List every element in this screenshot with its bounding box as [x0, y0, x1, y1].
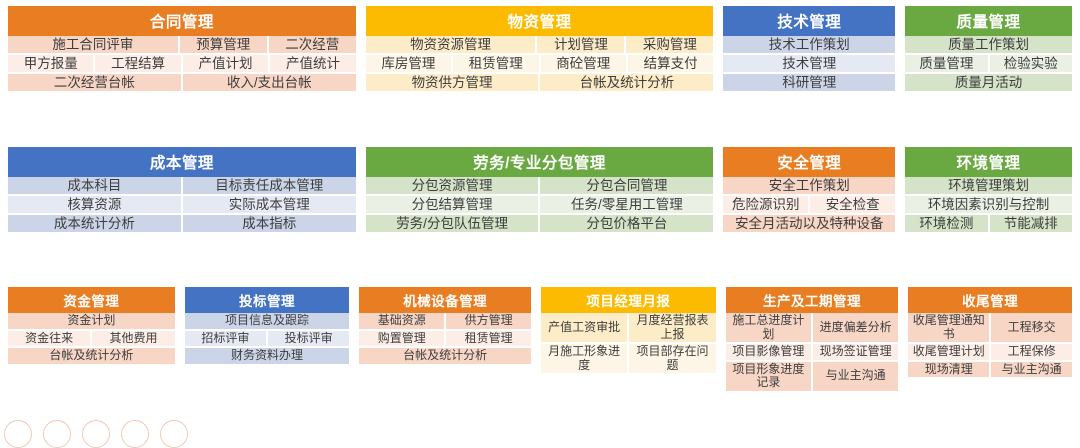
module-item[interactable]: 分包结算管理: [366, 196, 539, 213]
module-row: 资金往来其他费用: [8, 329, 175, 346]
module-item[interactable]: 实际成本管理: [181, 196, 356, 213]
module-item[interactable]: 月施工形象进度: [541, 344, 627, 373]
module-item[interactable]: 成本统计分析: [8, 215, 181, 232]
module-item[interactable]: 结算支付: [626, 55, 713, 72]
module-item[interactable]: 财务资料办理: [185, 348, 350, 363]
card-title-production-schedule-management: 生产及工期管理: [726, 287, 899, 313]
module-item[interactable]: 产值工资审批: [541, 313, 627, 342]
card-title-cost-management: 成本管理: [8, 147, 356, 177]
module-item[interactable]: 计划管理: [535, 36, 624, 53]
module-row: 甲方报量工程结算产值计划产值统计: [8, 53, 356, 72]
module-item[interactable]: 收尾管理通知书: [908, 313, 989, 342]
module-row: 技术工作策划: [723, 36, 895, 53]
module-item[interactable]: 分包资源管理: [366, 177, 539, 194]
card-body-cost-management: 成本科目目标责任成本管理核算资源实际成本管理成本统计分析成本指标: [8, 177, 356, 232]
module-item[interactable]: 安全工作策划: [723, 177, 895, 194]
card-title-quality-management: 质量管理: [905, 6, 1072, 36]
card-title-labor-subcontract-management: 劳务/专业分包管理: [366, 147, 714, 177]
module-item[interactable]: 库房管理: [366, 55, 451, 72]
card-material-management: 物资管理物资资源管理计划管理采购管理库房管理租赁管理商砼管理结算支付物资供方管理…: [366, 6, 714, 91]
card-title-contract-management: 合同管理: [8, 6, 356, 36]
module-item[interactable]: 工程保修: [989, 344, 1072, 359]
module-item[interactable]: 危险源识别: [723, 196, 808, 213]
module-row: 月施工形象进度项目部存在问题: [541, 342, 716, 373]
module-row: 项目形象进度记录与业主沟通: [726, 360, 899, 391]
card-title-bidding-management: 投标管理: [185, 287, 350, 313]
module-row: 台帐及统计分析: [359, 346, 531, 363]
module-item[interactable]: 二次经营台帐: [8, 74, 181, 91]
module-item[interactable]: 任务/零星用工管理: [538, 196, 713, 213]
module-item[interactable]: 项目形象进度记录: [726, 362, 811, 391]
module-row: 成本统计分析成本指标: [8, 213, 356, 232]
module-row: 施工合同评审预算管理二次经营: [8, 36, 356, 53]
card-body-bidding-management: 项目信息及跟踪招标评审投标评审财务资料办理: [185, 313, 350, 363]
module-item[interactable]: 现场清理: [908, 362, 989, 377]
module-item[interactable]: 台帐及统计分析: [8, 348, 175, 363]
module-row: 环境检测节能减排: [905, 213, 1072, 232]
row-3: 资金管理资金计划资金往来其他费用台帐及统计分析投标管理项目信息及跟踪招标评审投标…: [8, 287, 1072, 425]
module-item[interactable]: 与业主沟通: [811, 362, 898, 391]
module-row: 质量工作策划: [905, 36, 1072, 53]
module-item[interactable]: 工程移交: [989, 313, 1072, 342]
card-title-closeout-management: 收尾管理: [908, 287, 1072, 313]
card-title-material-management: 物资管理: [366, 6, 714, 36]
module-row: 物资供方管理台帐及统计分析: [366, 72, 714, 91]
module-item[interactable]: 技术管理: [723, 55, 895, 72]
module-item[interactable]: 产值计划: [181, 55, 268, 72]
module-row: 物资资源管理计划管理采购管理: [366, 36, 714, 53]
module-row: 核算资源实际成本管理: [8, 194, 356, 213]
card-technology-management: 技术管理技术工作策划技术管理科研管理: [723, 6, 895, 91]
card-body-material-management: 物资资源管理计划管理采购管理库房管理租赁管理商砼管理结算支付物资供方管理台帐及统…: [366, 36, 714, 91]
card-body-quality-management: 质量工作策划质量管理检验实验质量月活动: [905, 36, 1072, 91]
module-item[interactable]: 二次经营: [267, 36, 356, 53]
card-body-safety-management: 安全工作策划危险源识别安全检查安全月活动以及特种设备: [723, 177, 895, 232]
module-item[interactable]: 收入/支出台帐: [181, 74, 356, 91]
module-item[interactable]: 安全月活动以及特种设备: [723, 215, 895, 232]
module-item[interactable]: 资金计划: [8, 313, 175, 328]
module-item[interactable]: 环境检测: [905, 215, 987, 232]
module-item[interactable]: 分包合同管理: [538, 177, 713, 194]
module-item[interactable]: 目标责任成本管理: [181, 177, 356, 194]
module-item[interactable]: 现场签证管理: [811, 344, 898, 359]
card-machinery-equipment-management: 机械设备管理基础资源供方管理购置管理租赁管理台帐及统计分析: [359, 287, 531, 363]
module-item[interactable]: 供方管理: [444, 313, 531, 328]
module-row: 购置管理租赁管理: [359, 329, 531, 346]
module-item[interactable]: 检验实验: [988, 55, 1072, 72]
module-item[interactable]: 质量管理: [905, 55, 987, 72]
card-quality-management: 质量管理质量工作策划质量管理检验实验质量月活动: [905, 6, 1072, 91]
module-row: 收尾管理通知书工程移交: [908, 313, 1072, 342]
module-item[interactable]: 质量工作策划: [905, 36, 1072, 53]
module-item[interactable]: 质量月活动: [905, 74, 1072, 91]
card-title-safety-management: 安全管理: [723, 147, 895, 177]
module-row: 台帐及统计分析: [8, 346, 175, 363]
card-title-machinery-equipment-management: 机械设备管理: [359, 287, 531, 313]
card-body-machinery-equipment-management: 基础资源供方管理购置管理租赁管理台帐及统计分析: [359, 313, 531, 363]
module-item[interactable]: 产值统计: [268, 55, 355, 72]
module-item[interactable]: 预算管理: [178, 36, 267, 53]
module-item[interactable]: 工程结算: [93, 55, 180, 72]
module-item[interactable]: 安全检查: [808, 196, 895, 213]
card-body-contract-management: 施工合同评审预算管理二次经营甲方报量工程结算产值计划产值统计二次经营台帐收入/支…: [8, 36, 356, 91]
module-item[interactable]: 项目部存在问题: [627, 344, 715, 373]
module-row: 安全工作策划: [723, 177, 895, 194]
module-item[interactable]: 科研管理: [723, 74, 895, 91]
row-2: 成本管理成本科目目标责任成本管理核算资源实际成本管理成本统计分析成本指标劳务/专…: [8, 147, 1072, 279]
module-row: 劳务/分包队伍管理分包价格平台: [366, 213, 714, 232]
module-item[interactable]: 项目影像管理: [726, 344, 811, 359]
module-row: 科研管理: [723, 72, 895, 91]
card-closeout-management: 收尾管理收尾管理通知书工程移交收尾管理计划工程保修现场清理与业主沟通: [908, 287, 1072, 377]
module-item[interactable]: 进度偏差分析: [811, 313, 898, 342]
module-item[interactable]: 分包价格平台: [538, 215, 713, 232]
card-body-technology-management: 技术工作策划技术管理科研管理: [723, 36, 895, 91]
module-row: 技术管理: [723, 53, 895, 72]
module-row: 项目影像管理现场签证管理: [726, 342, 899, 359]
module-item[interactable]: 甲方报量: [8, 55, 93, 72]
card-contract-management: 合同管理施工合同评审预算管理二次经营甲方报量工程结算产值计划产值统计二次经营台帐…: [8, 6, 356, 91]
module-row: 收尾管理计划工程保修: [908, 342, 1072, 359]
card-body-environment-management: 环境管理策划环境因素识别与控制环境检测节能减排: [905, 177, 1072, 232]
module-item[interactable]: 施工合同评审: [8, 36, 178, 53]
module-row: 危险源识别安全检查: [723, 194, 895, 213]
module-row: 基础资源供方管理: [359, 313, 531, 328]
module-row: 库房管理租赁管理商砼管理结算支付: [366, 53, 714, 72]
card-body-closeout-management: 收尾管理通知书工程移交收尾管理计划工程保修现场清理与业主沟通: [908, 313, 1072, 377]
module-item[interactable]: 招标评审: [185, 331, 266, 346]
module-row: 产值工资审批月度经营报表上报: [541, 313, 716, 342]
module-row: 施工总进度计划进度偏差分析: [726, 313, 899, 342]
module-item[interactable]: 项目信息及跟踪: [185, 313, 350, 328]
card-project-manager-monthly-report: 项目经理月报产值工资审批月度经营报表上报月施工形象进度项目部存在问题: [541, 287, 716, 373]
module-item[interactable]: 物资供方管理: [366, 74, 539, 91]
module-row: 资金计划: [8, 313, 175, 328]
module-item[interactable]: 月度经营报表上报: [627, 313, 715, 342]
module-item[interactable]: 技术工作策划: [723, 36, 895, 53]
module-row: 招标评审投标评审: [185, 329, 350, 346]
card-body-labor-subcontract-management: 分包资源管理分包合同管理分包结算管理任务/零星用工管理劳务/分包队伍管理分包价格…: [366, 177, 714, 232]
card-environment-management: 环境管理环境管理策划环境因素识别与控制环境检测节能减排: [905, 147, 1072, 232]
card-labor-subcontract-management: 劳务/专业分包管理分包资源管理分包合同管理分包结算管理任务/零星用工管理劳务/分…: [366, 147, 714, 232]
module-item[interactable]: 租赁管理: [444, 331, 531, 346]
module-row: 质量月活动: [905, 72, 1072, 91]
module-row: 分包结算管理任务/零星用工管理: [366, 194, 714, 213]
module-item[interactable]: 租赁管理: [451, 55, 538, 72]
module-item[interactable]: 商砼管理: [539, 55, 626, 72]
card-body-fund-management: 资金计划资金往来其他费用台帐及统计分析: [8, 313, 175, 363]
module-row: 环境管理策划: [905, 177, 1072, 194]
card-fund-management: 资金管理资金计划资金往来其他费用台帐及统计分析: [8, 287, 175, 363]
module-item[interactable]: 投标评审: [266, 331, 349, 346]
module-row: 财务资料办理: [185, 346, 350, 363]
module-row: 现场清理与业主沟通: [908, 360, 1072, 377]
module-row: 分包资源管理分包合同管理: [366, 177, 714, 194]
card-cost-management: 成本管理成本科目目标责任成本管理核算资源实际成本管理成本统计分析成本指标: [8, 147, 356, 232]
card-bidding-management: 投标管理项目信息及跟踪招标评审投标评审财务资料办理: [185, 287, 350, 363]
module-item[interactable]: 核算资源: [8, 196, 181, 213]
module-item[interactable]: 资金往来: [8, 331, 90, 346]
card-body-production-schedule-management: 施工总进度计划进度偏差分析项目影像管理现场签证管理项目形象进度记录与业主沟通: [726, 313, 899, 390]
card-safety-management: 安全管理安全工作策划危险源识别安全检查安全月活动以及特种设备: [723, 147, 895, 232]
module-item[interactable]: 购置管理: [359, 331, 444, 346]
card-title-project-manager-monthly-report: 项目经理月报: [541, 287, 716, 313]
module-item[interactable]: 收尾管理计划: [908, 344, 989, 359]
module-row: 质量管理检验实验: [905, 53, 1072, 72]
module-item[interactable]: 与业主沟通: [989, 362, 1072, 377]
module-item[interactable]: 台帐及统计分析: [359, 348, 531, 363]
module-item[interactable]: 物资资源管理: [366, 36, 536, 53]
card-title-environment-management: 环境管理: [905, 147, 1072, 177]
module-overview-board: 合同管理施工合同评审预算管理二次经营甲方报量工程结算产值计划产值统计二次经营台帐…: [0, 0, 1080, 434]
module-row: 二次经营台帐收入/支出台帐: [8, 72, 356, 91]
module-item[interactable]: 劳务/分包队伍管理: [366, 215, 539, 232]
module-item[interactable]: 成本科目: [8, 177, 181, 194]
module-item[interactable]: 环境管理策划: [905, 177, 1072, 194]
row-1: 合同管理施工合同评审预算管理二次经营甲方报量工程结算产值计划产值统计二次经营台帐…: [8, 6, 1072, 138]
module-item[interactable]: 台帐及统计分析: [538, 74, 713, 91]
card-title-fund-management: 资金管理: [8, 287, 175, 313]
module-item[interactable]: 采购管理: [624, 36, 713, 53]
module-item[interactable]: 基础资源: [359, 313, 444, 328]
module-row: 项目信息及跟踪: [185, 313, 350, 328]
module-row: 成本科目目标责任成本管理: [8, 177, 356, 194]
module-item[interactable]: 其他费用: [90, 331, 174, 346]
card-title-technology-management: 技术管理: [723, 6, 895, 36]
module-item[interactable]: 环境因素识别与控制: [905, 196, 1072, 213]
module-row: 安全月活动以及特种设备: [723, 213, 895, 232]
module-item[interactable]: 节能减排: [988, 215, 1072, 232]
module-row: 环境因素识别与控制: [905, 194, 1072, 213]
module-item[interactable]: 施工总进度计划: [726, 313, 811, 342]
card-production-schedule-management: 生产及工期管理施工总进度计划进度偏差分析项目影像管理现场签证管理项目形象进度记录…: [726, 287, 899, 390]
module-item[interactable]: 成本指标: [181, 215, 356, 232]
card-body-project-manager-monthly-report: 产值工资审批月度经营报表上报月施工形象进度项目部存在问题: [541, 313, 716, 373]
